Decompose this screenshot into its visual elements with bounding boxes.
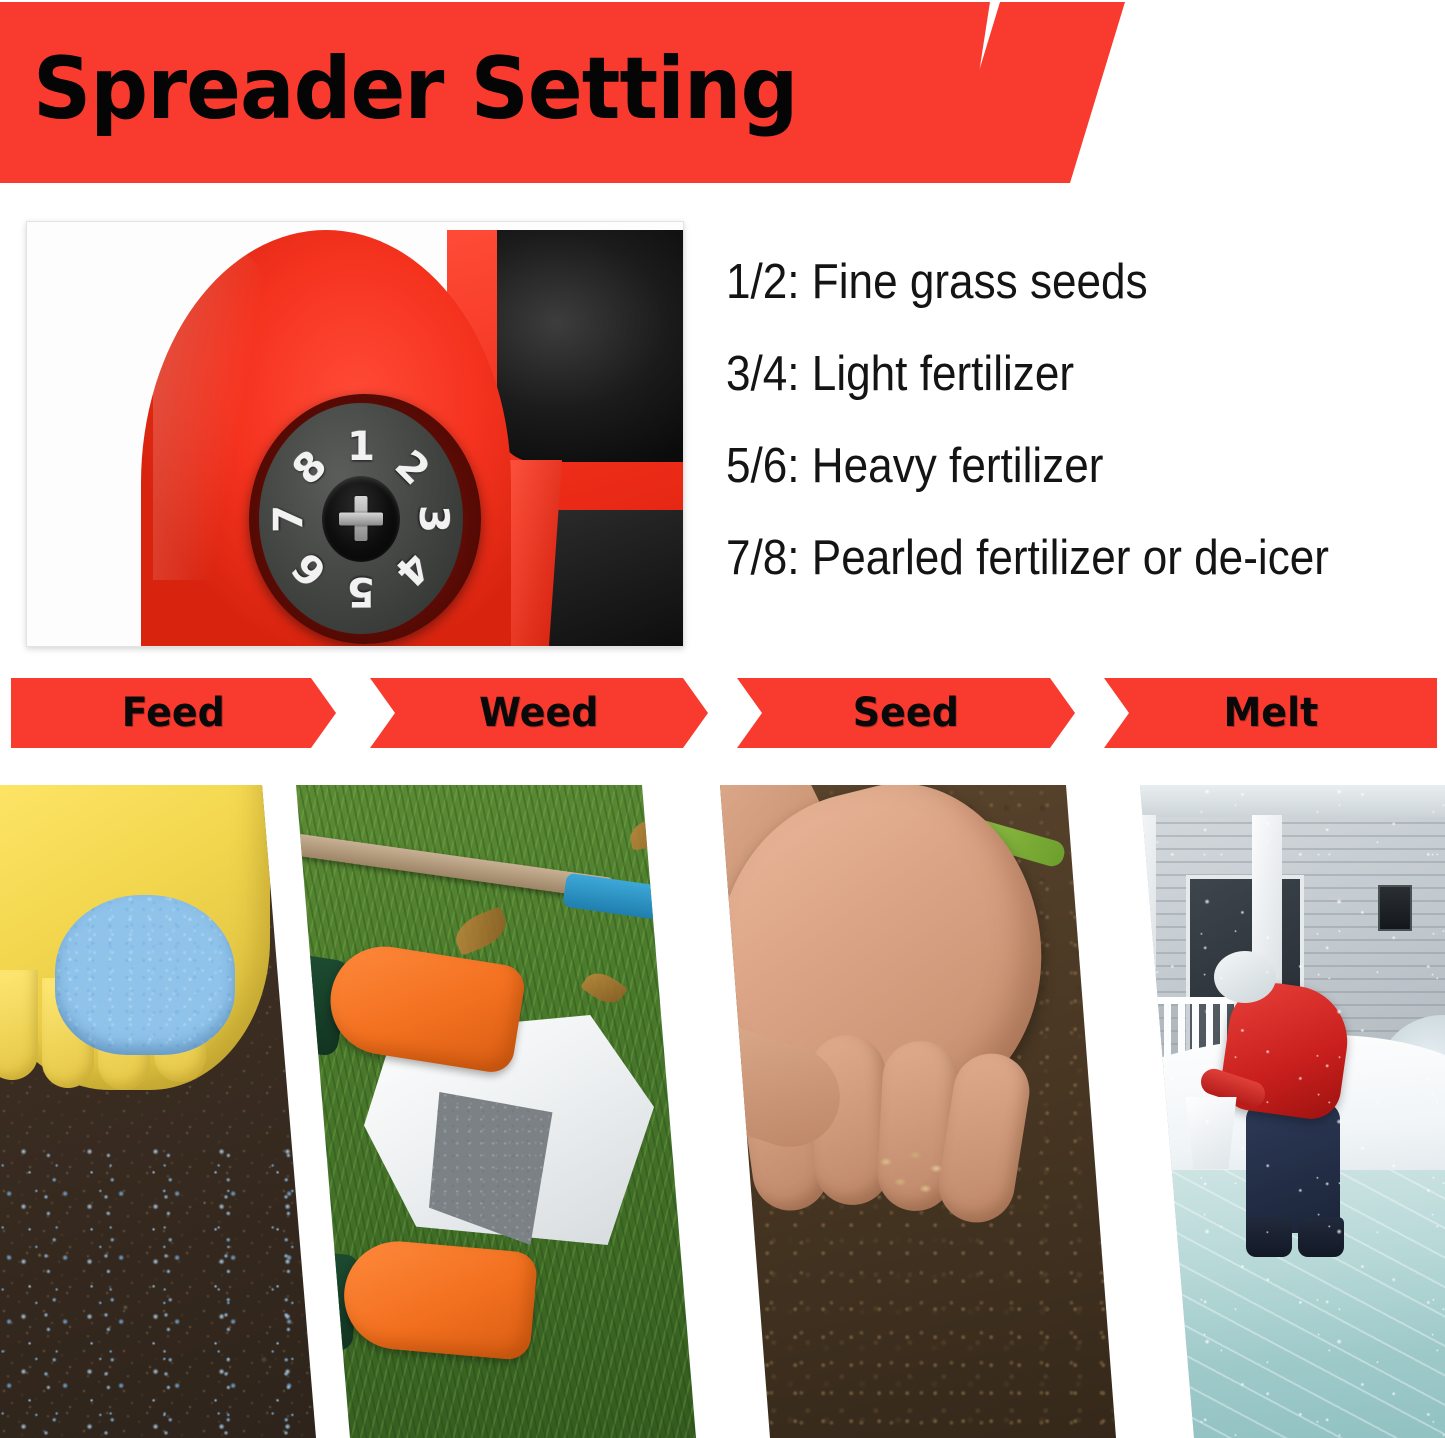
boot (1298, 1217, 1344, 1257)
dial-number: 8 (284, 441, 336, 493)
boot (1246, 1217, 1292, 1257)
use-case-label-weed: Weed (370, 678, 708, 748)
use-case-photo-feed (0, 785, 330, 1438)
product-photo: 12345678 (27, 222, 683, 646)
dial-number: 2 (386, 441, 438, 493)
legend-item: 7/8: Pearled fertilizer or de-icer (726, 534, 1365, 583)
porch-lantern-icon (1378, 885, 1412, 931)
label-text: Feed (122, 690, 225, 736)
porch-column (1126, 815, 1156, 1075)
blue-fertilizer-granules (55, 895, 235, 1055)
use-case-label-melt: Melt (1104, 678, 1437, 748)
page-title: Spreader Setting (33, 46, 797, 132)
dial-number: 3 (410, 505, 456, 533)
seeds (866, 1145, 956, 1201)
dial-number: 5 (347, 568, 375, 614)
legend-item: 1/2: Fine grass seeds (726, 258, 1365, 307)
scattered-granules (0, 1145, 330, 1438)
porch-roof (1078, 785, 1445, 817)
page-header: Spreader Setting (0, 0, 1445, 190)
dial-number: 4 (386, 543, 438, 595)
use-case-label-feed: Feed (11, 678, 336, 748)
dial-face: 12345678 (259, 403, 463, 634)
person-legs (1246, 1103, 1340, 1233)
label-text: Weed (479, 690, 598, 736)
use-case-photo-strip (0, 785, 1445, 1438)
phillips-screw-icon (322, 476, 400, 562)
dial-number: 7 (266, 505, 312, 533)
settings-legend: 1/2: Fine grass seeds 3/4: Light fertili… (726, 258, 1436, 626)
product-photo-card: 12345678 (26, 221, 684, 647)
spreader-setting-dial[interactable]: 12345678 (249, 394, 481, 644)
spreader-black-top (497, 230, 683, 462)
person-hat (1214, 951, 1276, 1003)
use-case-label-seed: Seed (737, 678, 1075, 748)
dial-number: 6 (284, 543, 336, 595)
legend-item: 3/4: Light fertilizer (726, 350, 1365, 399)
label-text: Melt (1223, 690, 1318, 736)
label-text: Seed (853, 690, 959, 736)
dial-number: 1 (347, 424, 375, 470)
legend-item: 5/6: Heavy fertilizer (726, 442, 1365, 491)
use-case-photo-seed (616, 785, 1116, 1438)
spreader-black-bottom (539, 510, 683, 646)
use-case-photo-weed (244, 785, 744, 1438)
use-case-label-row: Feed Weed Seed Melt (0, 678, 1445, 750)
